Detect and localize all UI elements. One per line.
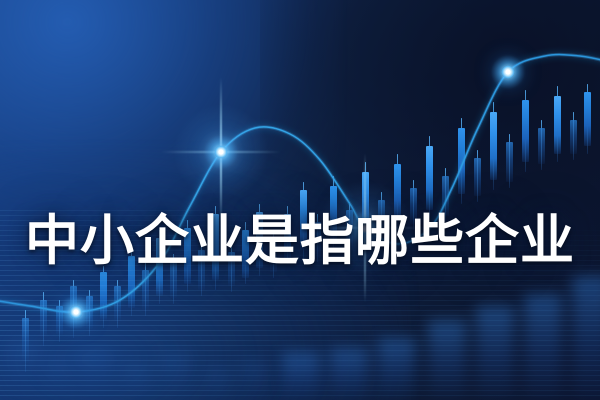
node-core xyxy=(363,226,368,231)
banner-image: 中小企业是指哪些企业 xyxy=(0,0,600,400)
node-core xyxy=(74,310,79,315)
node-core xyxy=(506,70,511,75)
node-core xyxy=(219,150,224,155)
